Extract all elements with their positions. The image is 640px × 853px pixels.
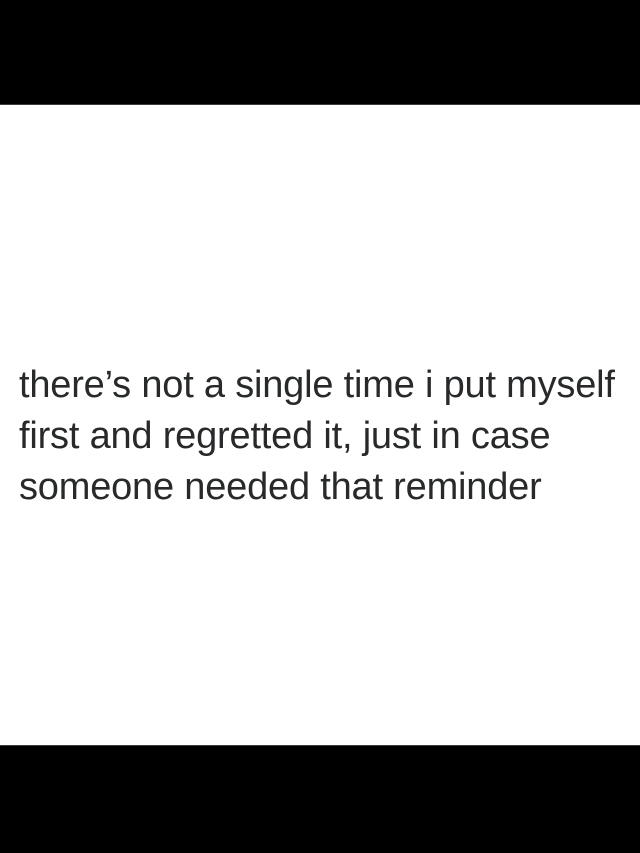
quote-line-3: someone needed that reminder: [19, 462, 635, 513]
quote-line-2: first and regretted it, just in case: [19, 411, 635, 462]
quote-line-1: there’s not a single time i put myself: [19, 360, 635, 411]
letterbox-bar-top: [0, 0, 640, 104]
letterbox-bar-bottom: [0, 746, 640, 853]
quote-card-screenshot: there’s not a single time i put myself f…: [0, 0, 640, 853]
quote-text-block: there’s not a single time i put myself f…: [19, 360, 635, 513]
quote-card-surface: there’s not a single time i put myself f…: [0, 105, 640, 745]
